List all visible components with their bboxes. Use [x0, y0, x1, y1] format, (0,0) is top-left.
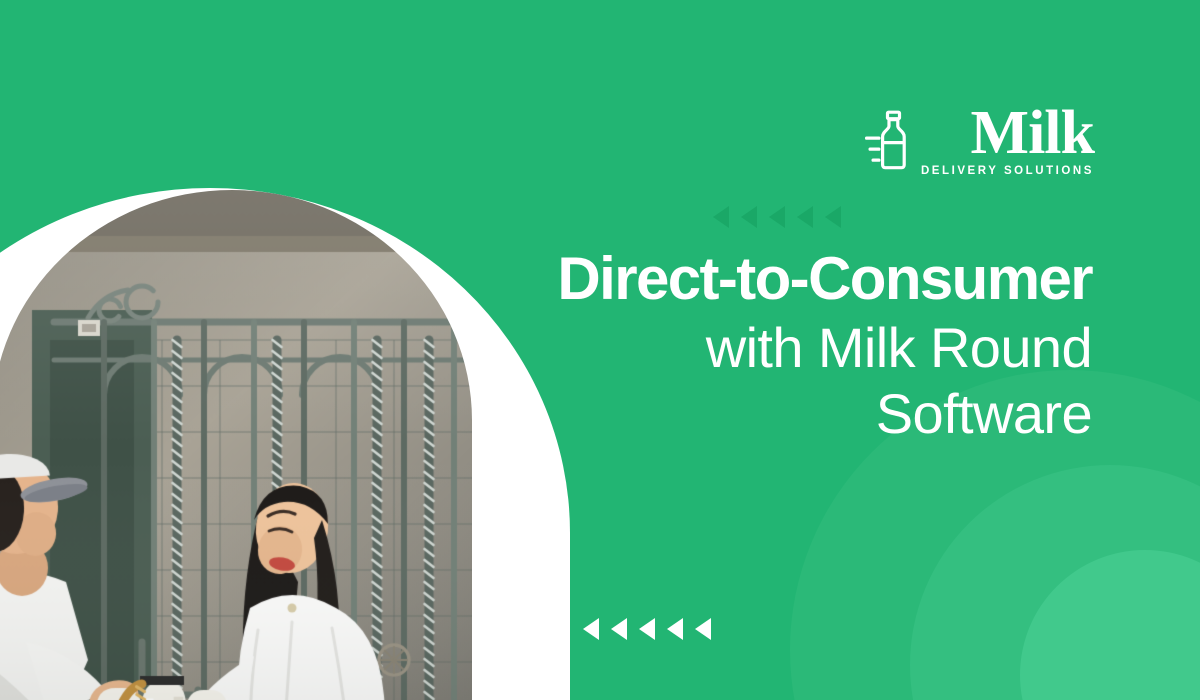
triangle-left-icon [769, 206, 785, 228]
headline-line-1: Direct-to-Consumer [372, 248, 1092, 309]
logo-text-block: Milk DELIVERY SOLUTIONS [921, 104, 1094, 177]
milk-bottle-icon [865, 109, 911, 176]
headline-line-3: Software [372, 381, 1092, 447]
corner-ring-mid [910, 465, 1200, 700]
triangle-left-icon [713, 206, 729, 228]
triangle-left-icon [611, 618, 627, 640]
triangle-row-bottom [583, 618, 711, 640]
promo-banner: Milk DELIVERY SOLUTIONS Direct-to-Consum… [0, 0, 1200, 700]
triangle-left-icon [639, 618, 655, 640]
triangle-left-icon [797, 206, 813, 228]
triangle-left-icon [695, 618, 711, 640]
triangle-row-top [713, 206, 841, 228]
triangle-left-icon [583, 618, 599, 640]
triangle-left-icon [741, 206, 757, 228]
logo-tagline: DELIVERY SOLUTIONS [921, 165, 1094, 177]
triangle-left-icon [667, 618, 683, 640]
headline-line-2: with Milk Round [372, 315, 1092, 381]
logo-wordmark: Milk [971, 104, 1094, 163]
triangle-left-icon [825, 206, 841, 228]
brand-logo[interactable]: Milk DELIVERY SOLUTIONS [865, 104, 1094, 177]
corner-ring-inner [1020, 550, 1200, 700]
headline-block: Direct-to-Consumer with Milk Round Softw… [372, 248, 1092, 447]
